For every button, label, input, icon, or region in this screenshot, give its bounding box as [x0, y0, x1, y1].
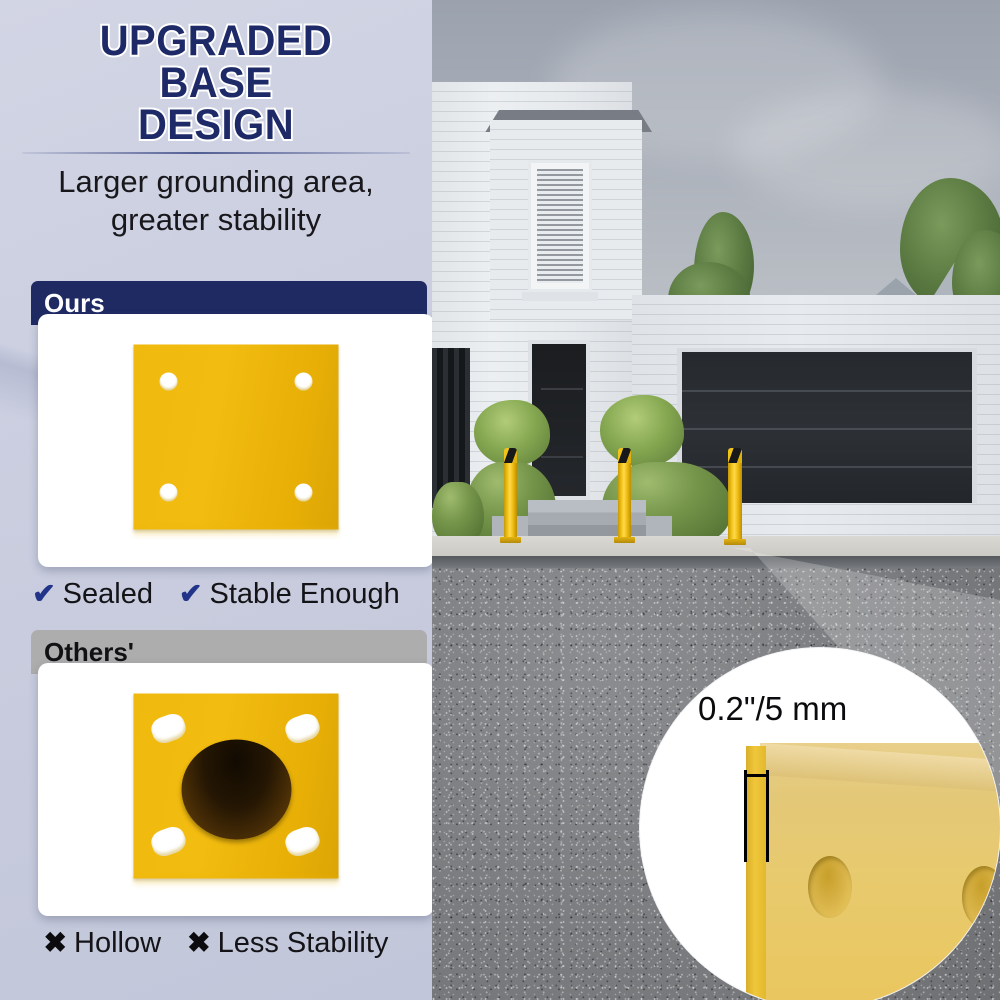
product-infographic: UPGRADED BASE DESIGN Larger grounding ar… [0, 0, 1000, 1000]
feature-label: Less Stability [218, 927, 389, 959]
dimension-label: 0.2"/5 mm [698, 690, 847, 728]
bollard-base-plate [500, 537, 521, 543]
title-block: UPGRADED BASE DESIGN [0, 20, 432, 146]
cross-icon: ✖ [44, 927, 67, 958]
bollard [504, 448, 517, 540]
product-image-card-ours [38, 314, 432, 567]
bolt-hole-icon [160, 372, 178, 390]
cross-icon: ✖ [187, 927, 210, 958]
bollard-post [504, 458, 517, 540]
feature-row-others: ✖Hollow ✖Less Stability [0, 926, 432, 960]
bollard-cap [618, 448, 631, 463]
feature-label: Hollow [74, 927, 161, 959]
door-panel-line [541, 388, 583, 390]
check-icon: ✔ [179, 578, 202, 609]
door-panel-line [541, 456, 583, 458]
bollard-base-plate [614, 537, 635, 543]
vent-louvers [537, 169, 583, 283]
base-plate-solid [134, 344, 339, 537]
magnifier-callout: 0.2"/5 mm [640, 648, 1000, 1000]
dimension-tick-left [744, 770, 747, 862]
base-plate-hollow [134, 693, 339, 886]
bollard-base-plate [724, 539, 746, 545]
subtitle: Larger grounding area, greater stability [0, 163, 432, 239]
magnified-plate-edge [746, 746, 766, 1000]
dimension-tick-right [766, 770, 769, 862]
bollard [728, 448, 742, 542]
feature-label: Sealed [63, 578, 153, 610]
countersunk-hole-icon [962, 866, 1000, 928]
feature-row-ours: ✔Sealed ✔Stable Enough [0, 577, 432, 611]
garage-panel-line [682, 466, 972, 468]
bolt-hole-icon [295, 483, 313, 501]
info-panel: UPGRADED BASE DESIGN Larger grounding ar… [0, 0, 432, 1000]
bolt-hole-icon [295, 372, 313, 390]
bollard-cap [728, 448, 742, 463]
tree-crown [600, 395, 684, 467]
center-hole-icon [181, 740, 291, 840]
title-divider [22, 152, 410, 154]
feature-item: ✖Hollow [44, 927, 170, 959]
garage-door [677, 348, 977, 503]
countersunk-hole-icon [808, 856, 852, 918]
dimension-bar [744, 774, 769, 777]
feature-item: ✔Stable Enough [179, 578, 400, 610]
headline-line-2: DESIGN [41, 104, 391, 146]
garage-panel-line [682, 390, 972, 392]
bolt-hole-icon [160, 483, 178, 501]
vent-sill [522, 292, 598, 301]
bollard [618, 448, 631, 540]
gable-vent [528, 160, 592, 292]
bollard-post [618, 458, 631, 540]
feature-item: ✔Sealed [32, 578, 161, 610]
lifestyle-photo: 0.2"/5 mm [432, 0, 1000, 1000]
check-icon: ✔ [32, 578, 55, 609]
feature-item: ✖Less Stability [187, 927, 388, 959]
feature-label: Stable Enough [210, 578, 400, 610]
page-title: UPGRADED BASE DESIGN [41, 20, 391, 146]
headline-line-1: UPGRADED BASE [41, 20, 391, 104]
garage-panel-line [682, 428, 972, 430]
hedge [432, 482, 484, 542]
product-image-card-others [38, 663, 432, 916]
bollard-cap [504, 448, 517, 463]
bollard-post [728, 458, 742, 542]
